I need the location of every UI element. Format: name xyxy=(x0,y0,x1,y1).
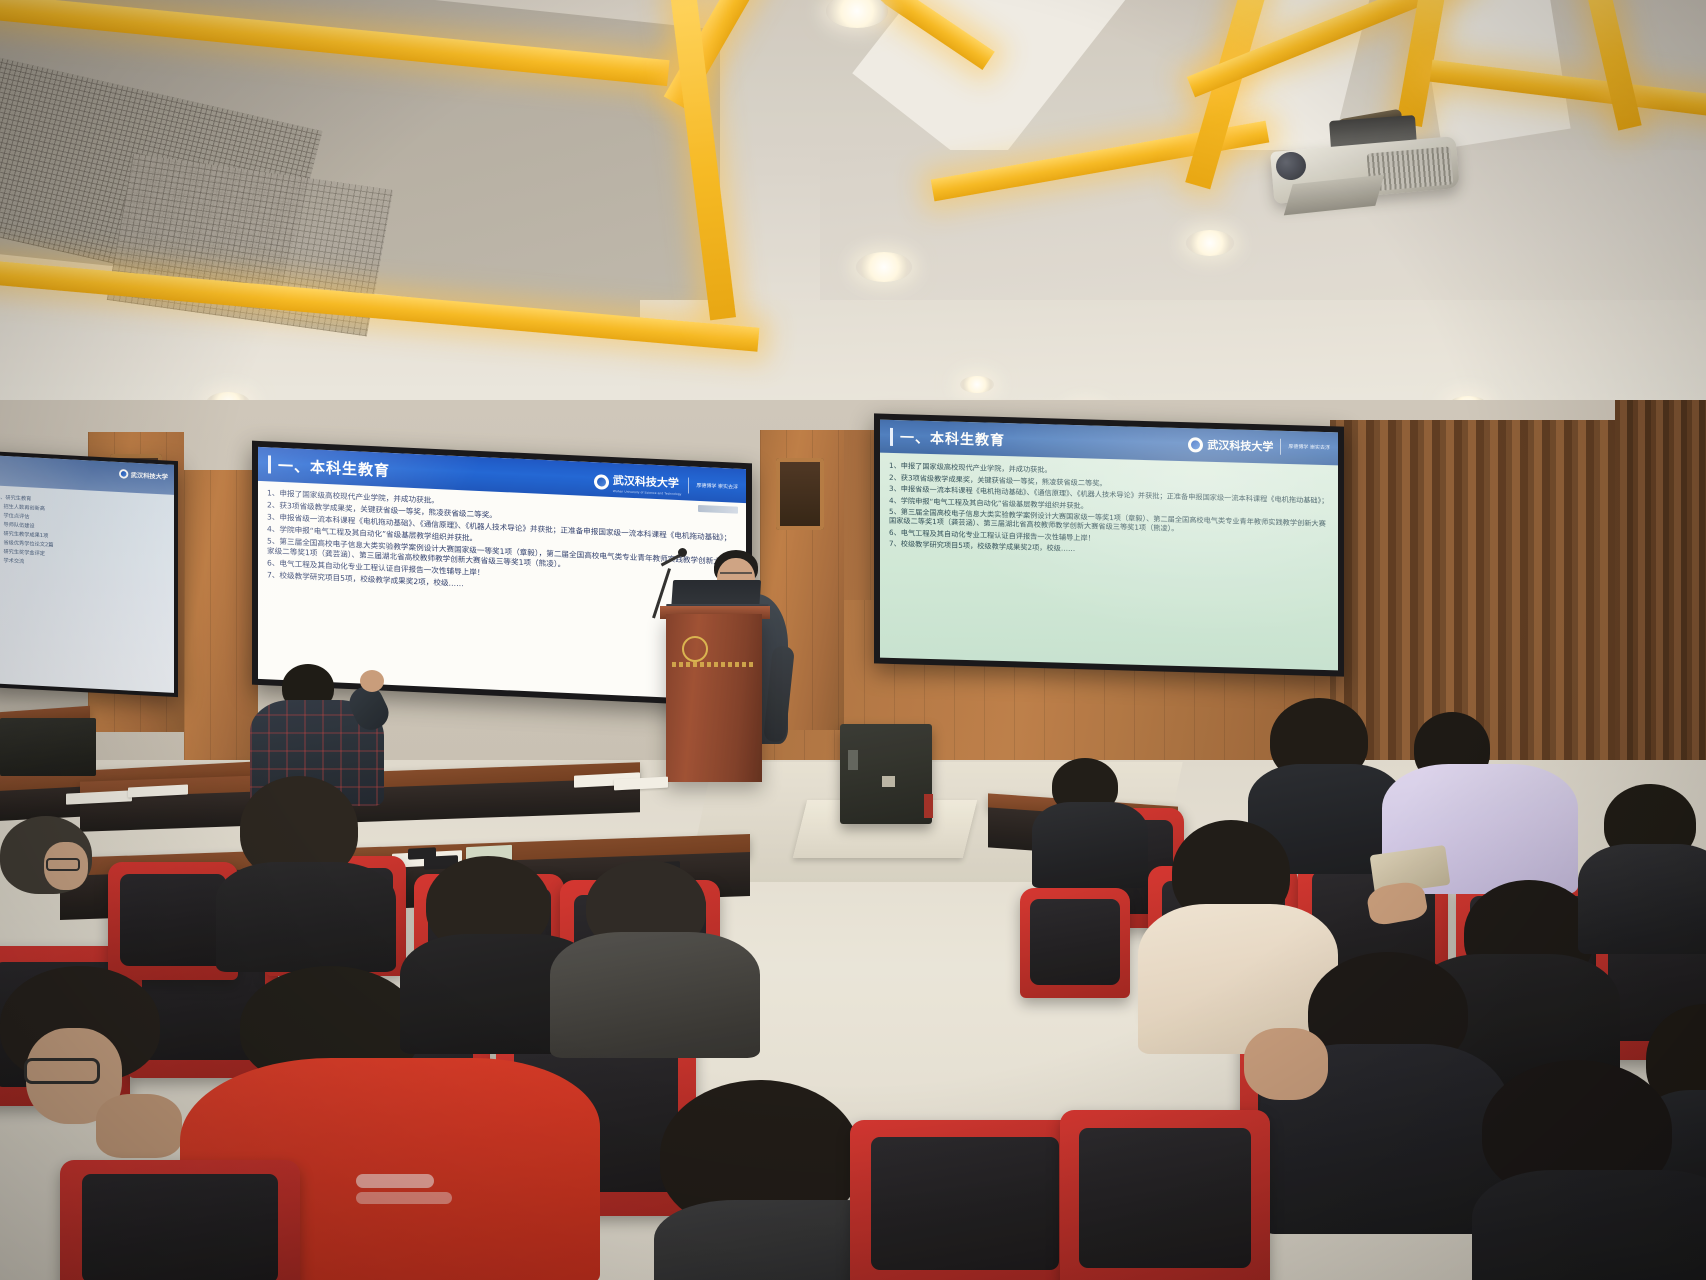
speaker-panel-icon xyxy=(848,750,858,770)
slide-body-right: 1、申报了国家级高校现代产业学院，并成功获批。 2、获3项省级教学成果奖，关键获… xyxy=(880,456,1338,564)
audience-member-7 xyxy=(1250,952,1500,1222)
audience-glasses-icon xyxy=(46,858,80,871)
podium-nameplate xyxy=(672,662,756,667)
podium xyxy=(666,614,762,782)
university-motto: 厚德博学 崇实去浮 xyxy=(696,483,738,491)
audience-member-8 xyxy=(1586,784,1706,924)
slide-body-left: 二、研究生教育 1、招生人数再创新高 2、学位点评估 3、导师队伍建设 4、研究… xyxy=(0,489,174,576)
audience-glasses-icon xyxy=(24,1058,100,1084)
ceiling-downlight xyxy=(960,376,994,393)
university-name-left: 武汉科技大学 xyxy=(131,470,168,481)
slide-title-right: 一、本科生教育 xyxy=(900,427,1005,450)
seat[interactable] xyxy=(1020,888,1130,998)
cove-light-strip xyxy=(1582,0,1641,131)
ceiling-projector xyxy=(1272,118,1480,210)
jacket-logo-text xyxy=(356,1192,452,1204)
podium-seal-icon xyxy=(682,636,708,662)
university-logo-icon xyxy=(119,469,128,479)
slide-title-center: 一、本科生教育 xyxy=(278,455,390,481)
audience-member-5 xyxy=(556,860,736,1040)
microphone-head-icon xyxy=(678,548,687,557)
university-name-right: 武汉科技大学 xyxy=(1207,437,1273,455)
audience-torso xyxy=(550,932,760,1058)
audience-member-2 xyxy=(222,776,362,956)
university-logo-icon xyxy=(594,474,609,490)
audience-torso xyxy=(1472,1170,1706,1280)
wood-pillar-left-2 xyxy=(184,470,258,770)
lecture-hall-photo: 武汉科技大学 二、研究生教育 1、招生人数再创新高 2、学位点评估 3、导师队伍… xyxy=(0,0,1706,1280)
audience-torso xyxy=(1578,844,1706,954)
university-name-en: Wuhan University of Science and Technolo… xyxy=(613,489,682,496)
floor-loudspeaker xyxy=(840,724,932,824)
ceiling-downlight xyxy=(1186,230,1234,256)
seat[interactable] xyxy=(60,1160,300,1280)
jacket-logo-icon xyxy=(356,1174,434,1188)
audience-hand xyxy=(1244,1028,1328,1100)
ceiling-downlight xyxy=(856,252,912,282)
university-motto: 厚德博学 崇实去浮 xyxy=(1288,444,1330,451)
header-accent-bar xyxy=(890,428,893,446)
header-accent-bar xyxy=(268,455,271,473)
audience-member-11 xyxy=(1482,1060,1706,1280)
audience-member-9 xyxy=(1036,758,1136,868)
audience-member-4 xyxy=(404,856,574,1026)
pillar-access-panel xyxy=(776,458,824,530)
speaker-side-marker xyxy=(924,794,933,818)
audience-hand xyxy=(360,670,384,692)
audience-torso xyxy=(1032,802,1148,888)
seat[interactable] xyxy=(1060,1110,1270,1280)
seat[interactable] xyxy=(850,1120,1080,1280)
speaker-knob-icon xyxy=(882,776,895,787)
university-logo-icon xyxy=(1188,437,1203,452)
projection-screen-right: 一、本科生教育 武汉科技大学 厚德博学 崇实去浮 1、申报了国家级高校现代产业学… xyxy=(880,420,1338,671)
side-equipment-case xyxy=(0,718,96,776)
audience-member-plaid xyxy=(256,664,376,794)
university-name-center: 武汉科技大学 xyxy=(613,474,679,490)
audience-torso xyxy=(216,862,396,972)
logo-divider xyxy=(688,477,689,493)
logo-divider xyxy=(1280,439,1281,455)
audience-member-1 xyxy=(0,816,130,936)
ceiling xyxy=(0,0,1706,420)
ceiling-downlight xyxy=(826,0,888,28)
projection-screen-left: 武汉科技大学 二、研究生教育 1、招生人数再创新高 2、学位点评估 3、导师队伍… xyxy=(0,455,174,693)
